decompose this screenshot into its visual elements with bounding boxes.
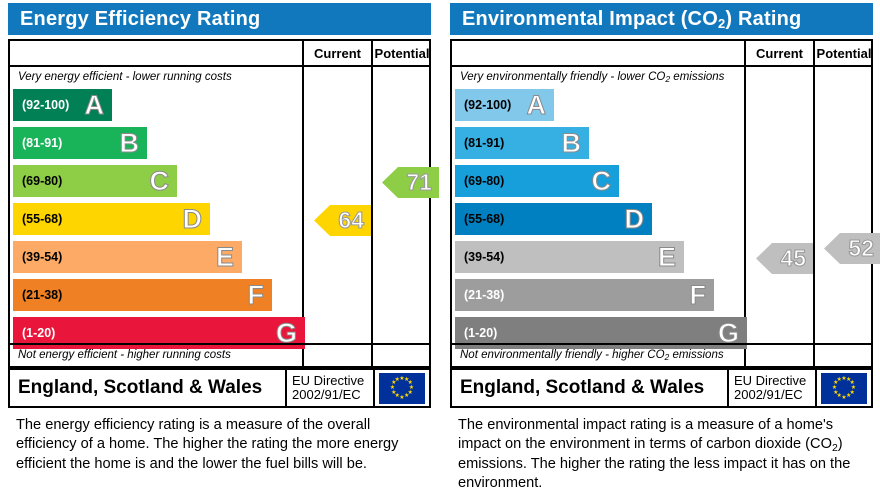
column-divider-potential xyxy=(371,41,373,366)
column-divider-potential xyxy=(813,41,815,366)
band-range-e: (39-54) xyxy=(13,250,62,264)
current-rating-arrow: 64 xyxy=(314,205,371,236)
band-bar-f: (21-38) F xyxy=(455,279,714,311)
energy-footer: England, Scotland & Wales EU Directive 2… xyxy=(8,368,431,408)
region-label: England, Scotland & Wales xyxy=(10,370,285,406)
band-letter-d: D xyxy=(625,206,645,233)
band-letter-a: A xyxy=(85,92,105,119)
eu-directive: EU Directive 2002/91/EC xyxy=(727,370,815,406)
band-letter-f: F xyxy=(690,282,707,309)
band-range-f: (21-38) xyxy=(13,288,62,302)
band-range-g: (1-20) xyxy=(13,326,55,340)
band-bar-b: (81-91) B xyxy=(13,127,147,159)
page-title-text: Environmental Impact (CO xyxy=(462,8,718,31)
eu-flag-container: ★★★★★★★★★★★★ xyxy=(373,370,429,406)
band-bar-d: (55-68) D xyxy=(455,203,652,235)
eu-directive: EU Directive 2002/91/EC xyxy=(285,370,373,406)
caption-divider xyxy=(452,343,871,345)
potential-rating-value: 52 xyxy=(848,237,874,260)
band-range-e: (39-54) xyxy=(455,250,504,264)
band-bar-d: (55-68) D xyxy=(13,203,210,235)
eu-flag-container: ★★★★★★★★★★★★ xyxy=(815,370,871,406)
band-bar-a: (92-100) A xyxy=(455,89,554,121)
energy-description: The energy efficiency rating is a measur… xyxy=(16,416,426,474)
band-letter-e: E xyxy=(216,244,234,271)
page-title-text: Energy Efficiency Rating xyxy=(20,8,260,31)
band-bar-c: (69-80) C xyxy=(455,165,619,197)
caption-top: Very energy efficient - lower running co… xyxy=(18,71,232,83)
band-range-b: (81-91) xyxy=(13,136,62,150)
band-bar-e: (39-54) E xyxy=(13,241,242,273)
current-rating-value: 45 xyxy=(780,247,806,270)
band-letter-b: B xyxy=(562,130,582,157)
energy-efficiency-panel: Energy Efficiency Rating Current Potenti… xyxy=(0,0,432,493)
band-bar-c: (69-80) C xyxy=(13,165,177,197)
directive-line-2: 2002/91/EC xyxy=(734,388,815,402)
band-letter-b: B xyxy=(120,130,140,157)
directive-line-2: 2002/91/EC xyxy=(292,388,373,402)
directive-line-1: EU Directive xyxy=(734,374,815,388)
eu-flag-icon: ★★★★★★★★★★★★ xyxy=(821,373,867,404)
potential-rating-arrow: 71 xyxy=(382,167,439,198)
band-letter-c: C xyxy=(592,168,612,195)
epc-chart-page: Energy Efficiency Rating Current Potenti… xyxy=(0,0,880,493)
band-range-a: (92-100) xyxy=(455,98,511,112)
band-letter-a: A xyxy=(527,92,547,119)
band-bar-a: (92-100) A xyxy=(13,89,112,121)
potential-rating-arrow: 52 xyxy=(824,233,880,264)
environmental-impact-title: Environmental Impact (CO2) Rating xyxy=(450,3,873,35)
current-rating-value: 64 xyxy=(338,209,364,232)
environmental-footer: England, Scotland & Wales EU Directive 2… xyxy=(450,368,873,408)
energy-efficiency-table: Current Potential Very energy efficient … xyxy=(8,39,431,368)
band-range-c: (69-80) xyxy=(455,174,504,188)
band-letter-c: C xyxy=(150,168,170,195)
eu-flag-icon: ★★★★★★★★★★★★ xyxy=(379,373,425,404)
current-rating-arrow: 45 xyxy=(756,243,813,274)
energy-efficiency-title: Energy Efficiency Rating xyxy=(8,3,431,35)
environmental-description: The environmental impact rating is a mea… xyxy=(458,416,868,493)
column-header-potential: Potential xyxy=(373,41,431,67)
desc-part-1: The environmental impact rating is a mea… xyxy=(458,417,833,452)
band-range-b: (81-91) xyxy=(455,136,504,150)
band-bar-e: (39-54) E xyxy=(455,241,684,273)
directive-line-1: EU Directive xyxy=(292,374,373,388)
band-bar-f: (21-38) F xyxy=(13,279,272,311)
environmental-impact-panel: Environmental Impact (CO2) Rating Curren… xyxy=(442,0,874,493)
potential-rating-value: 71 xyxy=(406,171,432,194)
caption-divider xyxy=(10,343,429,345)
column-header-potential: Potential xyxy=(815,41,873,67)
environmental-impact-table: Current Potential Very environmentally f… xyxy=(450,39,873,368)
column-header-current: Current xyxy=(304,41,371,67)
subscript-2: 2 xyxy=(718,16,725,31)
caption-top: Very environmentally friendly - lower CO… xyxy=(460,71,724,83)
caption-bottom: Not energy efficient - higher running co… xyxy=(18,349,231,361)
band-letter-d: D xyxy=(183,206,203,233)
band-bar-b: (81-91) B xyxy=(455,127,589,159)
band-range-d: (55-68) xyxy=(455,212,504,226)
column-header-current: Current xyxy=(746,41,813,67)
band-range-d: (55-68) xyxy=(13,212,62,226)
band-letter-f: F xyxy=(248,282,265,309)
band-range-a: (92-100) xyxy=(13,98,69,112)
band-range-c: (69-80) xyxy=(13,174,62,188)
band-range-g: (1-20) xyxy=(455,326,497,340)
band-letter-e: E xyxy=(658,244,676,271)
band-range-f: (21-38) xyxy=(455,288,504,302)
page-title-suffix: ) Rating xyxy=(725,8,801,31)
caption-bottom: Not environmentally friendly - higher CO… xyxy=(460,349,724,361)
region-label: England, Scotland & Wales xyxy=(452,370,727,406)
